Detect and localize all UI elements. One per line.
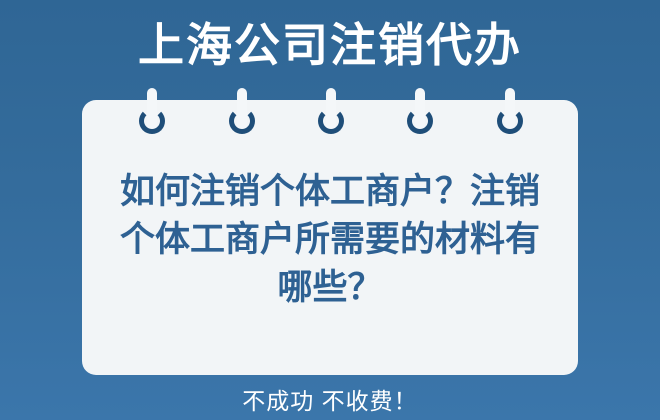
headline-line-2: 个体工商户所需要的材料有 [100, 216, 560, 264]
headline-line-3: 哪些？ [100, 264, 560, 312]
headline-line-1: 如何注销个体工商户？注销 [100, 168, 560, 216]
notebook-card: 如何注销个体工商户？注销 个体工商户所需要的材料有 哪些？ [82, 100, 578, 375]
headline-text-block: 如何注销个体工商户？注销 个体工商户所需要的材料有 哪些？ [100, 168, 560, 312]
page-title: 上海公司注销代办 [0, 17, 660, 73]
promo-poster: 上海公司注销代办 如何注销个体工商户？注销 个体工商户所需要的材料有 哪些？ [0, 0, 660, 420]
footer-tagline: 不成功 不收费！ [0, 382, 660, 416]
